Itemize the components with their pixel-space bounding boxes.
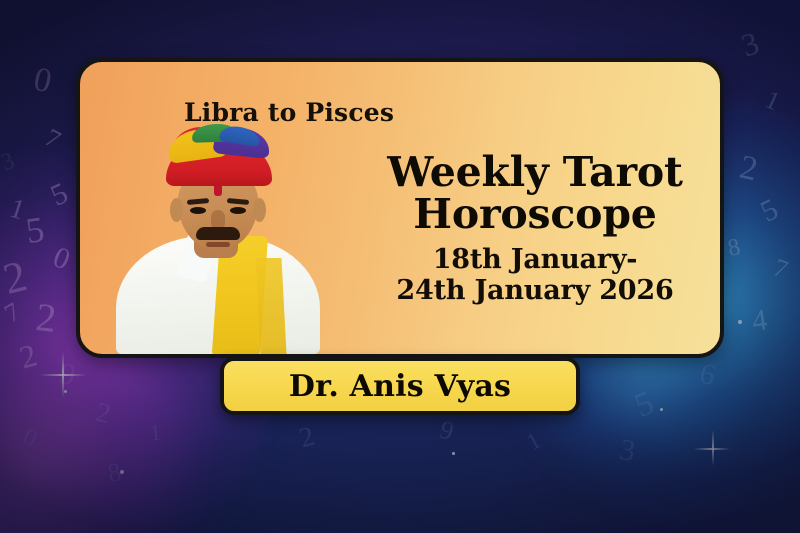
poster-canvas: 0 2 7 5 1 5 2 7 0 2 9 3 2 8 0 1 3 1 2 5 … <box>0 0 800 533</box>
portrait-ear <box>170 198 183 222</box>
card-title-line-2: Horoscope <box>355 194 715 236</box>
presenter-name-banner: Dr. Anis Vyas <box>220 357 580 415</box>
card-title-block: Weekly Tarot Horoscope 18th January- 24t… <box>355 152 715 306</box>
presenter-name: Dr. Anis Vyas <box>289 369 511 404</box>
presenter-portrait <box>108 122 328 354</box>
portrait-mouth <box>206 242 230 247</box>
portrait-eye <box>230 207 246 214</box>
portrait-moustache <box>196 227 240 240</box>
portrait-eye <box>190 207 206 214</box>
portrait-turban <box>166 122 272 186</box>
card-date-line-2: 24th January 2026 <box>355 275 715 306</box>
card-title-line-1: Weekly Tarot <box>355 152 715 194</box>
portrait-shawl-fold <box>255 258 286 354</box>
card-kicker: Libra to Pisces <box>184 98 394 127</box>
portrait-ear <box>253 198 266 222</box>
card-date-line-1: 18th January- <box>355 244 715 275</box>
horoscope-card: Libra to Pisces Weekly Tarot Horoscope 1… <box>76 58 724 358</box>
horoscope-card-inner: Libra to Pisces Weekly Tarot Horoscope 1… <box>80 62 720 354</box>
